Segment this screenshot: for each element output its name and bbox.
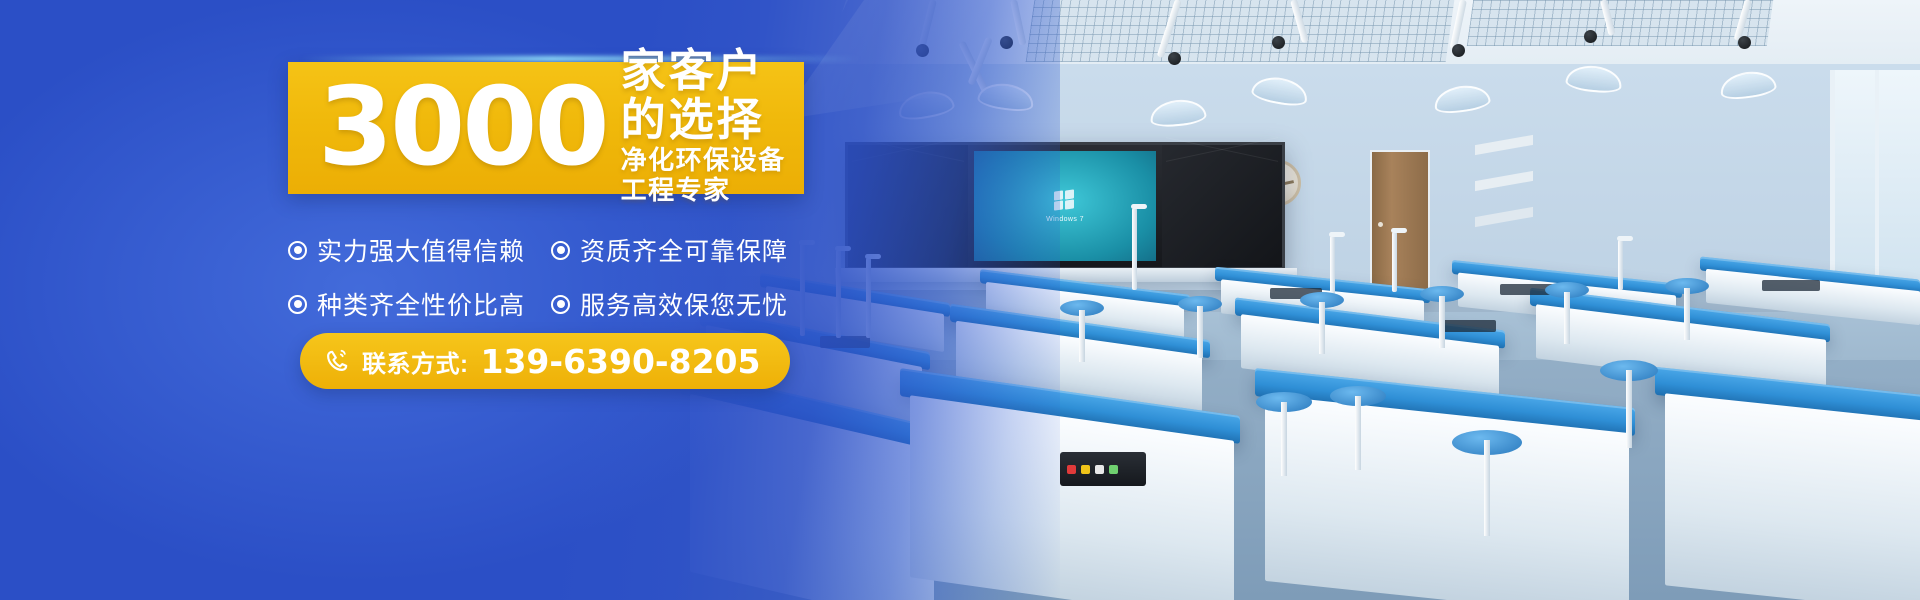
ceiling-grid-panel-2 <box>1467 0 1773 46</box>
extractor-joint <box>1738 36 1751 49</box>
circle-bullet-icon <box>551 241 570 260</box>
lab-stool <box>1545 282 1589 298</box>
feature-label: 服务高效保您无忧 <box>580 286 788 322</box>
contact-label: 联系方式: <box>362 344 469 379</box>
lab-stool <box>1178 296 1222 312</box>
circle-bullet-icon <box>288 295 307 314</box>
feature-list: 实力强大值得信赖 资质齐全可靠保障 种类齐全性价比高 服务高效保您无忧 <box>288 232 788 322</box>
faucet <box>1618 240 1623 290</box>
promo-banner: Windows 7 <box>0 0 1920 600</box>
lab-bench-body <box>1665 393 1920 600</box>
contact-number: 139-6390-8205 <box>481 342 761 381</box>
faucet <box>1132 208 1137 290</box>
sink <box>1762 280 1820 291</box>
feature-item-2: 资质齐全可靠保障 <box>551 232 788 268</box>
contact-pill[interactable]: 联系方式: 139-6390-8205 <box>300 333 790 389</box>
ceiling-grid-panel <box>1026 0 1455 62</box>
feature-label: 实力强大值得信赖 <box>317 232 525 268</box>
board-wing-right <box>1162 145 1282 267</box>
extractor-joint <box>1452 44 1465 57</box>
lab-stool <box>1256 392 1312 412</box>
lab-stool <box>1300 292 1344 308</box>
extractor-joint <box>1272 36 1285 49</box>
feature-item-4: 服务高效保您无忧 <box>551 286 788 322</box>
feature-label: 种类齐全性价比高 <box>317 286 525 322</box>
feature-item-3: 种类齐全性价比高 <box>288 286 525 322</box>
lab-stool <box>1330 386 1386 406</box>
sink <box>1440 320 1496 332</box>
extractor-joint <box>1168 52 1181 65</box>
lab-stool <box>1452 430 1522 455</box>
feature-label: 资质齐全可靠保障 <box>580 232 788 268</box>
customer-count: 3000 <box>318 78 607 177</box>
feature-item-1: 实力强大值得信赖 <box>288 232 525 268</box>
headline-block: 3000 家客户的选择 净化环保设备工程专家 <box>288 62 804 194</box>
window <box>1830 70 1920 300</box>
extractor-joint <box>1584 30 1597 43</box>
faucet <box>1330 236 1335 294</box>
headline-line-1: 家客户的选择 <box>621 47 804 144</box>
lab-stool <box>1420 286 1464 302</box>
door <box>1370 150 1430 300</box>
circle-bullet-icon <box>288 241 307 260</box>
headline-text: 家客户的选择 净化环保设备工程专家 <box>621 47 804 208</box>
headline-line-2: 净化环保设备工程专家 <box>621 146 804 204</box>
faucet <box>1392 232 1397 292</box>
lab-stool <box>1665 278 1709 294</box>
circle-bullet-icon <box>551 295 570 314</box>
lab-stool <box>1600 360 1658 381</box>
banner-content: 3000 家客户的选择 净化环保设备工程专家 实力强大值得信赖 资质齐全可靠保障… <box>0 0 1060 600</box>
phone-icon <box>324 348 350 374</box>
